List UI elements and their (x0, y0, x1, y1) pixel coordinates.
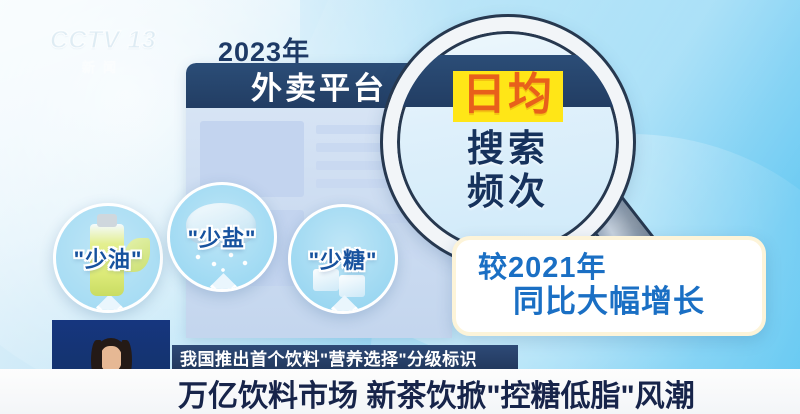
sugar-cube-icon (339, 275, 365, 297)
callout-line-2: 同比大幅增长 (513, 285, 705, 320)
bubble-label: "少油" (74, 242, 143, 274)
magnifier-content: 日均 搜索 频次 (397, 31, 619, 253)
bubble-shao-yan: "少盐" (167, 182, 277, 292)
salt-grains-icon (190, 251, 254, 273)
channel-logo-main: CCTV 13 (47, 26, 159, 55)
growth-callout-box: 较2021年 同比大幅增长 (452, 236, 766, 336)
channel-logo: CCTV 13 新闻 (47, 26, 159, 76)
magnifier-line-3: 频次 (467, 171, 549, 214)
subtitle-text: 我国推出首个饮料"营养选择"分级标识 (172, 345, 477, 370)
bubble-label: "少盐" (188, 221, 257, 253)
bubble-shao-you: "少油" (53, 203, 163, 313)
bubble-tail (331, 295, 358, 314)
bubble-shao-tang: "少糖" (288, 204, 398, 314)
bubble-tail (210, 273, 237, 292)
magnifier-icon: 日均 搜索 频次 (383, 17, 633, 267)
broadcast-screen: CCTV 13 新闻 2023年 外卖平台 (0, 0, 800, 414)
magnifier-line-2: 搜索 (467, 128, 549, 171)
platform-banner-label: 外卖平台 (251, 63, 387, 108)
callout-line-1: 较2021年 (456, 252, 607, 284)
bubble-tail (96, 294, 123, 313)
text-placeholder-line (316, 161, 387, 170)
headline-text: 万亿饮料市场 新茶饮掀"控糖低脂"风潮 (178, 371, 695, 414)
bubble-label: "少糖" (309, 243, 378, 275)
channel-logo-sub: 新闻 (47, 57, 159, 76)
oil-bottle-cap-icon (97, 214, 117, 227)
subtitle-banner: 我国推出首个饮料"营养选择"分级标识 (172, 345, 518, 369)
magnifier-highlight-text: 日均 (453, 71, 563, 122)
